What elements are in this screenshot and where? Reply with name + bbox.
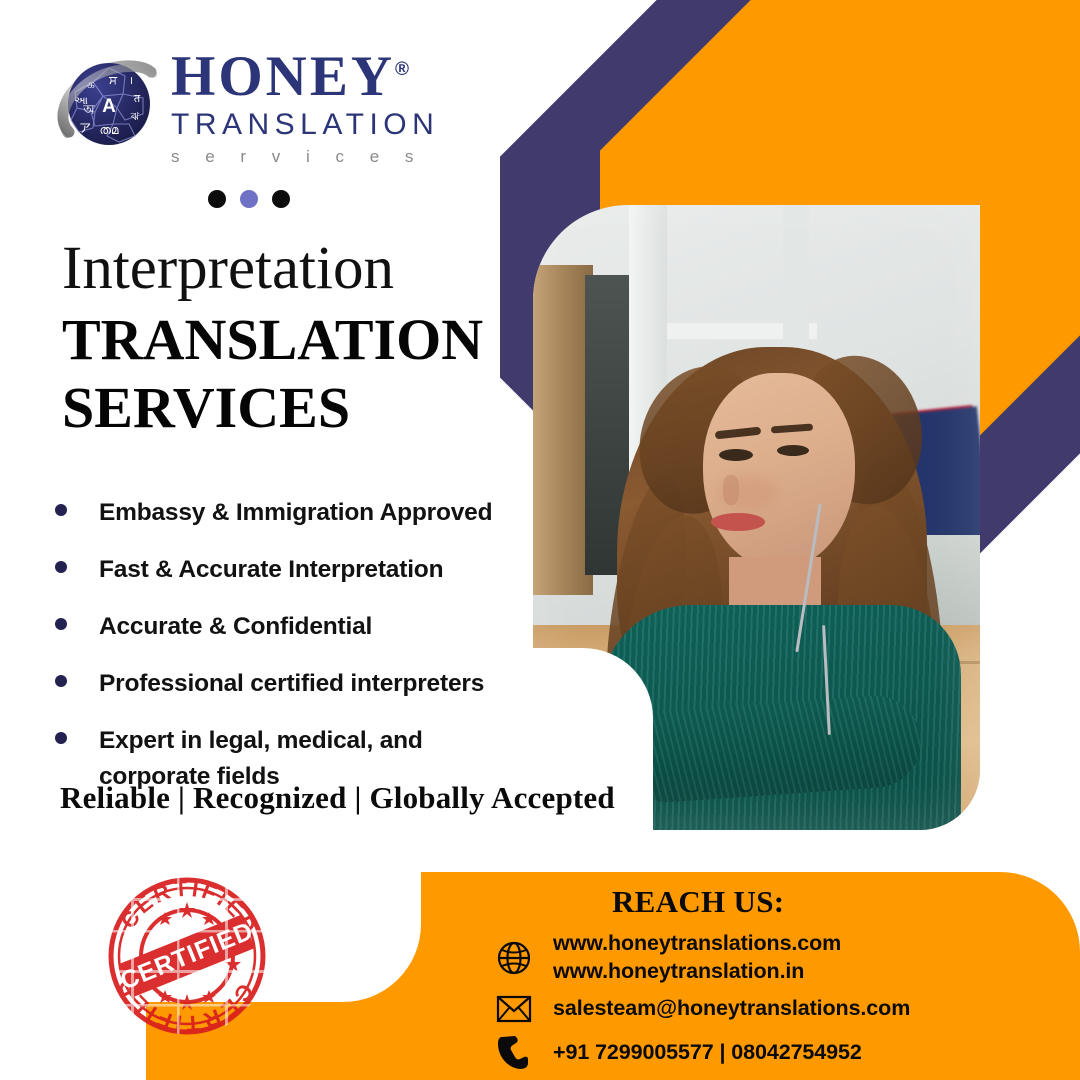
- tagline: Reliable | Recognized | Globally Accepte…: [60, 780, 615, 816]
- bullet-dot-icon: [55, 618, 67, 630]
- svg-text:অ: অ: [82, 102, 95, 117]
- list-item: Professional certified interpreters: [55, 666, 525, 702]
- dot-1: [208, 190, 226, 208]
- logo-translation-text: TRANSLATION: [171, 110, 439, 140]
- headline-bold: TRANSLATION SERVICES: [62, 306, 483, 442]
- headline-script: Interpretation: [62, 238, 394, 299]
- envelope-icon: [495, 990, 533, 1028]
- feature-text: Fast & Accurate Interpretation: [99, 552, 443, 588]
- contact-heading: REACH US:: [612, 884, 784, 920]
- svg-text:त: त: [134, 93, 141, 105]
- phone-text[interactable]: +91 7299005577 | 08042754952: [553, 1039, 862, 1067]
- headline-line-2: SERVICES: [62, 374, 483, 442]
- logo-services-text: s e r v i c e s: [171, 148, 439, 165]
- headline-line-1: TRANSLATION: [62, 306, 483, 374]
- features-list: Embassy & Immigration Approved Fast & Ac…: [55, 495, 525, 816]
- phone-icon: [495, 1034, 533, 1072]
- website-text: www.honeytranslations.com www.honeytrans…: [553, 930, 841, 985]
- bullet-dot-icon: [55, 732, 67, 744]
- poster-canvas: A க ਸ । આ অ त ঝ ア തമ HONEY® TRANSLATION …: [0, 0, 1080, 1080]
- feature-text: Accurate & Confidential: [99, 609, 372, 645]
- website-1[interactable]: www.honeytranslations.com: [553, 930, 841, 958]
- brand-logo[interactable]: A க ਸ । આ অ त ঝ ア തമ HONEY® TRANSLATION …: [55, 48, 415, 173]
- email-text[interactable]: salesteam@honeytranslations.com: [553, 995, 910, 1023]
- bullet-dot-icon: [55, 561, 67, 573]
- decorative-dots: [208, 190, 290, 208]
- svg-text:ア: ア: [79, 121, 91, 135]
- certified-stamp-icon: CERTIFIED CERTIFIED CERTI: [103, 872, 271, 1040]
- contact-row-website[interactable]: www.honeytranslations.com www.honeytrans…: [495, 930, 841, 985]
- svg-text:തമ: തമ: [100, 123, 119, 137]
- logo-honey-text: HONEY®: [171, 48, 439, 105]
- svg-text:A: A: [102, 96, 116, 117]
- svg-text:।: ।: [129, 75, 133, 87]
- registered-trademark-icon: ®: [395, 59, 412, 80]
- dot-3: [272, 190, 290, 208]
- dot-2: [240, 190, 258, 208]
- list-item: Embassy & Immigration Approved: [55, 495, 525, 531]
- feature-text: Professional certified interpreters: [99, 666, 484, 702]
- contact-row-phone[interactable]: +91 7299005577 | 08042754952: [495, 1034, 862, 1072]
- list-item: Accurate & Confidential: [55, 609, 525, 645]
- feature-text: Embassy & Immigration Approved: [99, 495, 492, 531]
- bullet-dot-icon: [55, 675, 67, 687]
- globe-icon: [495, 939, 533, 977]
- svg-text:ঝ: ঝ: [130, 111, 140, 123]
- globe-languages-icon: A க ਸ । આ অ त ঝ ア തമ: [55, 52, 163, 160]
- bullet-dot-icon: [55, 504, 67, 516]
- list-item: Fast & Accurate Interpretation: [55, 552, 525, 588]
- contact-row-email[interactable]: salesteam@honeytranslations.com: [495, 990, 910, 1028]
- website-2[interactable]: www.honeytranslation.in: [553, 958, 841, 986]
